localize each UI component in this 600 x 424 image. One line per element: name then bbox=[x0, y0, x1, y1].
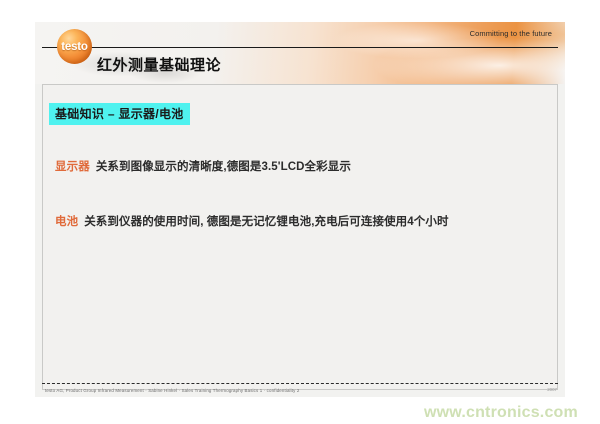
testo-logo-label: testo bbox=[57, 29, 92, 64]
body-keyword-battery: 电池 bbox=[55, 216, 78, 228]
body-text-display: 关系到图像显示的清晰度,德图是3.5'LCD全彩显示 bbox=[96, 161, 351, 173]
page-title: 红外测量基础理论 bbox=[97, 54, 221, 75]
footer-credits: testo AG, Product Group Infrared Measure… bbox=[45, 388, 300, 393]
body-keyword-display: 显示器 bbox=[55, 161, 90, 173]
body-text-battery: 关系到仪器的使用时间, 德图是无记忆锂电池,充电后可连接使用4个小时 bbox=[84, 216, 448, 228]
content-panel: 基础知识 – 显示器/电池 显示器关系到图像显示的清晰度,德图是3.5'LCD全… bbox=[42, 84, 558, 390]
header-divider-rule bbox=[42, 47, 558, 48]
body-line-display: 显示器关系到图像显示的清晰度,德图是3.5'LCD全彩显示 bbox=[55, 158, 351, 174]
brand-tagline: Committing to the future bbox=[470, 29, 552, 38]
section-subtitle: 基础知识 – 显示器/电池 bbox=[49, 103, 190, 125]
slide-header: Committing to the future testo 红外测量基础理论 bbox=[35, 22, 565, 84]
site-watermark: www.cntronics.com bbox=[424, 404, 578, 422]
subtitle-container: 基础知识 – 显示器/电池 bbox=[49, 103, 190, 125]
footer-divider bbox=[42, 383, 558, 384]
body-line-battery: 电池关系到仪器的使用时间, 德图是无记忆锂电池,充电后可连接使用4个小时 bbox=[55, 213, 449, 229]
footer-page-number: 2007 bbox=[547, 387, 557, 392]
slide-canvas: Committing to the future testo 红外测量基础理论 … bbox=[35, 22, 565, 397]
testo-logo-icon: testo bbox=[57, 29, 92, 64]
